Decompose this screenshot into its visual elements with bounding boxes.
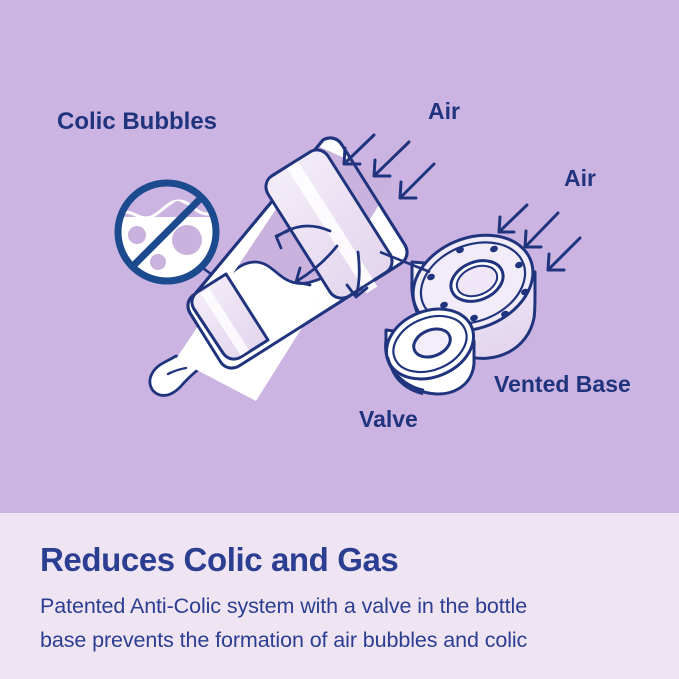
label-vented-base: Vented Base: [494, 371, 631, 398]
bottle-diagram-svg: [0, 0, 679, 513]
product-feature-graphic: Colic Bubbles Air Air Valve Vented Base …: [0, 0, 679, 679]
arrow-down-left-icon: [525, 213, 558, 247]
label-colic-bubbles: Colic Bubbles: [57, 108, 217, 136]
caption-body-line-2: base prevents the formation of air bubbl…: [40, 628, 527, 653]
arrow-down-left-icon: [400, 164, 434, 198]
caption-panel: Reduces Colic and Gas Patented Anti-Coli…: [0, 513, 679, 679]
label-air-right: Air: [564, 165, 596, 192]
label-valve: Valve: [359, 406, 418, 433]
caption-title: Reduces Colic and Gas: [40, 541, 398, 579]
arrow-down-left-icon: [499, 205, 527, 232]
arrow-down-left-icon: [374, 142, 409, 176]
arrow-down-left-icon: [344, 135, 374, 164]
caption-body-line-1: Patented Anti-Colic system with a valve …: [40, 594, 527, 619]
arrow-down-left-icon: [548, 238, 580, 270]
hero-illustration-panel: Colic Bubbles Air Air Valve Vented Base: [0, 0, 679, 513]
label-air-left: Air: [428, 98, 460, 125]
